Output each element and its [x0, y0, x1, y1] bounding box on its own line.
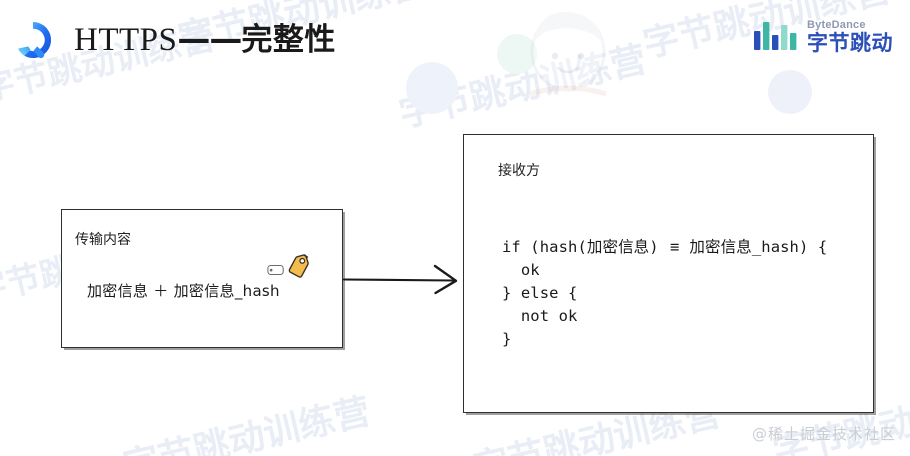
- community-watermark: @稀土掘金技术社区: [752, 423, 896, 444]
- code-line-4: not ok: [502, 307, 577, 325]
- page-title-prefix: HTTPS: [74, 22, 177, 58]
- code-line-5: }: [502, 330, 511, 348]
- bytedance-brand: ByteDance 字节跳动: [754, 16, 893, 56]
- code-line-1-after: 加密信息_hash) {: [680, 238, 827, 256]
- receiver-panel: 接收方 if (hash(加密信息) ≡ 加密信息_hash) { ok } e…: [463, 134, 874, 413]
- brand-name-en: ByteDance: [807, 19, 893, 31]
- background-decoration-circle: [768, 70, 812, 114]
- brand-name-cn: 字节跳动: [807, 32, 893, 54]
- mouse-cursor-icon: [267, 264, 285, 276]
- receiver-panel-heading: 接收方: [498, 160, 540, 180]
- code-line-1-before: if (hash(加密信息): [502, 238, 668, 256]
- background-watermark-text: 字节跳动训练营: [393, 30, 650, 137]
- bytedance-bars-icon: [754, 22, 800, 50]
- background-decoration-circle: [497, 34, 537, 74]
- code-line-3: } else {: [502, 284, 577, 302]
- arrow-right-icon: [343, 258, 465, 302]
- page-title: HTTPS——完整性: [74, 17, 336, 62]
- receiver-code-block: if (hash(加密信息) ≡ 加密信息_hash) { ok } else …: [502, 236, 827, 351]
- sender-panel-content: 加密信息 ＋ 加密信息_hash: [87, 280, 280, 301]
- sender-panel-heading: 传输内容: [75, 229, 131, 249]
- code-equality-operator: ≡: [670, 238, 677, 256]
- background-decoration-circle: [406, 62, 458, 114]
- code-line-2: ok: [502, 261, 540, 279]
- slide-canvas: 字节跳动训练营 字节跳动训练营 字节跳动训练营 字节跳动训练营 字节跳动训练营 …: [0, 0, 910, 456]
- background-watermark-text: 字节跳动训练营: [117, 382, 374, 456]
- quark-circle-logo-icon: [13, 20, 53, 60]
- page-title-suffix: 完整性: [241, 22, 336, 58]
- background-character-watermark-icon: [520, 8, 616, 100]
- page-title-dash: ——: [177, 19, 241, 58]
